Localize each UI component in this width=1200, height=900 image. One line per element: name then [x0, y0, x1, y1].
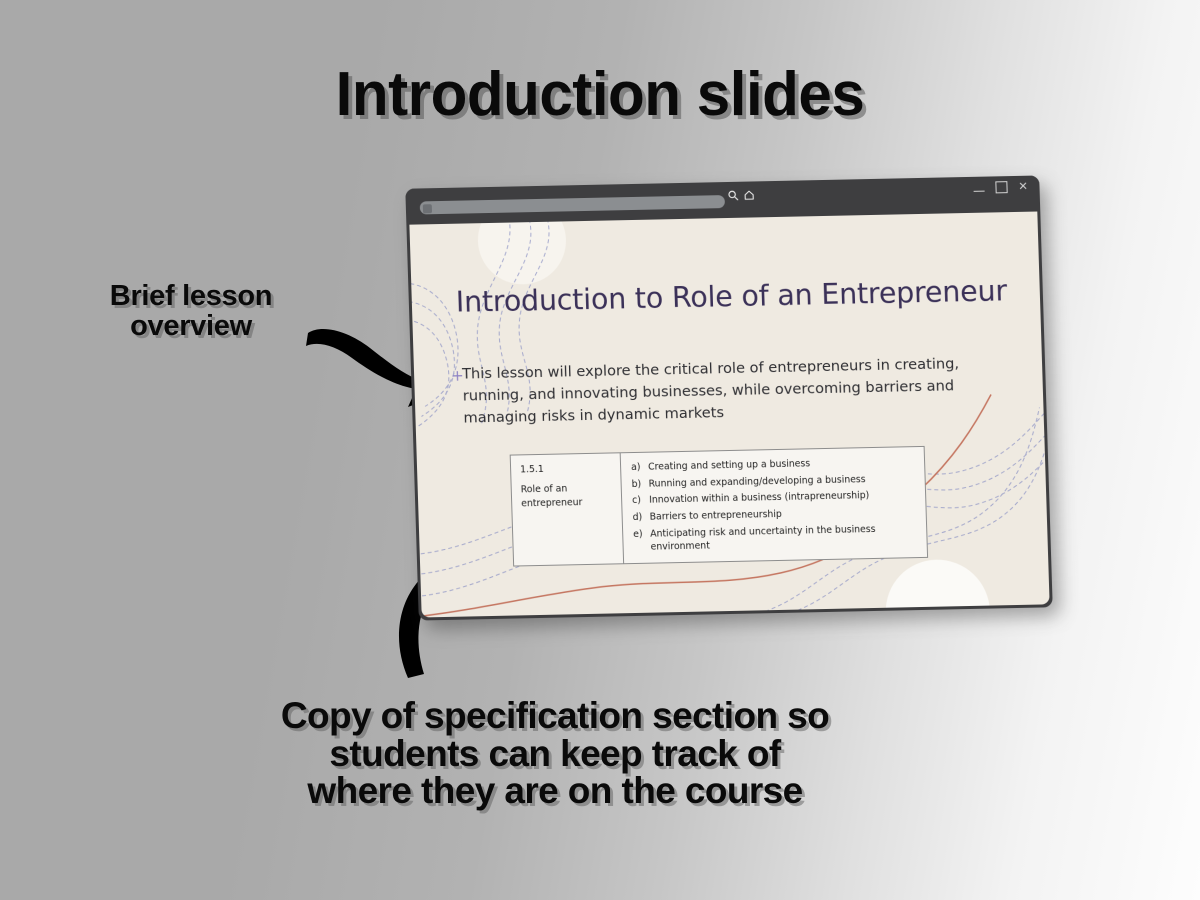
spec-item-key: b) [631, 477, 648, 491]
spec-item-key: d) [633, 511, 650, 525]
close-button[interactable]: × [1018, 179, 1027, 194]
annotation-spec-copy: Copy of specification section so student… [140, 697, 970, 810]
spec-item-key: e) [633, 527, 651, 554]
spec-item-text: Innovation within a business (intraprene… [649, 488, 917, 507]
spec-code: 1.5.1 [520, 461, 612, 477]
annotation-lesson-overview-line1: Brief lesson [36, 282, 346, 312]
spec-item-text: Creating and setting up a business [648, 455, 916, 474]
spec-list-item: b) Running and expanding/developing a bu… [631, 472, 916, 491]
browser-window[interactable]: × [405, 175, 1052, 620]
search-icon[interactable] [727, 190, 738, 201]
spec-item-text: Anticipating risk and uncertainty in the… [650, 522, 919, 554]
spec-list-item: e) Anticipating risk and uncertainty in … [633, 522, 919, 554]
slide-body-copy: This lesson will explore the critical ro… [462, 355, 959, 427]
annotation-spec-copy-line1: Copy of specification section so [140, 697, 970, 735]
spec-table-left-cell: 1.5.1 Role of an entrepreneur [511, 453, 624, 565]
annotation-spec-copy-line3: where they are on the course [140, 772, 970, 810]
spec-list-item: c) Innovation within a business (intrapr… [632, 488, 917, 507]
spec-item-text: Barriers to entrepreneurship [650, 505, 918, 524]
page-title: Introduction slides [18, 62, 1182, 127]
maximize-button[interactable] [996, 181, 1008, 193]
specification-table: 1.5.1 Role of an entrepreneur a) Creatin… [510, 446, 928, 567]
spec-item-key: c) [632, 494, 649, 508]
poster-canvas: Introduction slides Brief lesson overvie… [0, 0, 1200, 900]
home-icon[interactable] [743, 189, 754, 200]
spec-table-right-cell: a) Creating and setting up a business b)… [621, 447, 927, 563]
slide-body-text: + This lesson will explore the critical … [462, 353, 984, 430]
favicon-icon [423, 204, 432, 213]
spec-list-item: d) Barriers to entrepreneurship [633, 505, 918, 524]
minimize-button[interactable] [974, 190, 985, 191]
spec-title-line2: entrepreneur [521, 495, 613, 511]
slide-canvas: Introduction to Role of an Entrepreneur … [409, 212, 1049, 618]
spec-list-item: a) Creating and setting up a business [631, 455, 916, 474]
annotation-spec-copy-line2: students can keep track of [140, 735, 970, 773]
spec-item-text: Running and expanding/developing a busin… [648, 472, 916, 491]
window-controls[interactable]: × [974, 179, 1028, 195]
spec-item-key: a) [631, 461, 648, 475]
bullet-plus-icon: + [451, 365, 464, 388]
address-bar[interactable] [420, 195, 725, 214]
